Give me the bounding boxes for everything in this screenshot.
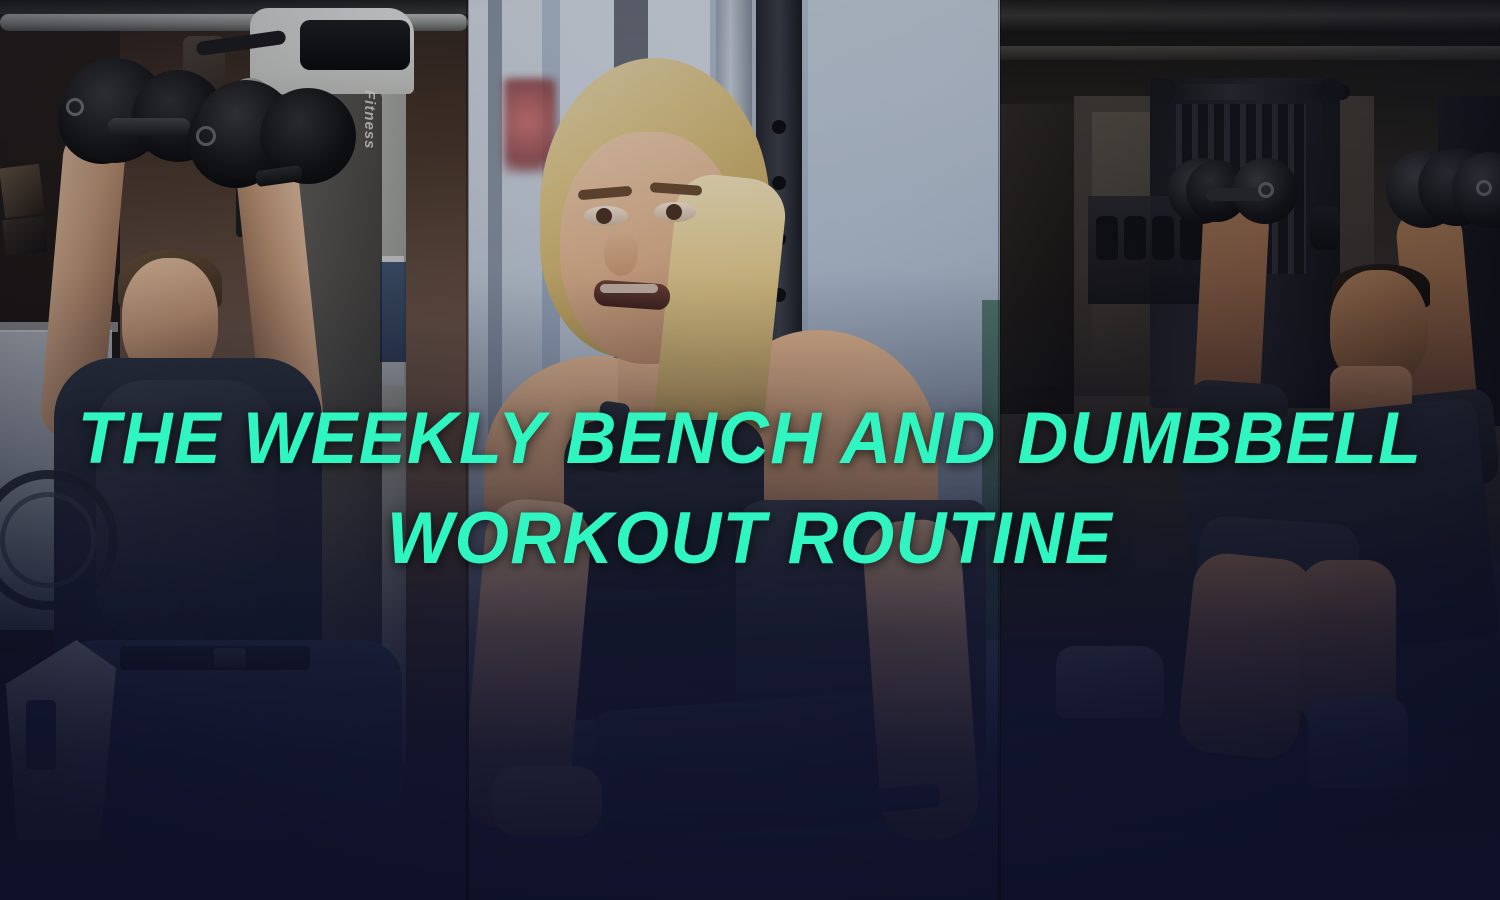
panel-left-overhead-press: Fitness [0,0,468,900]
photo-strip: Fitness [0,0,1500,900]
panel-right-incline-press [1000,0,1500,900]
workout-hero-banner: Fitness [0,0,1500,900]
panel-middle-athlete-portrait [468,0,1000,900]
